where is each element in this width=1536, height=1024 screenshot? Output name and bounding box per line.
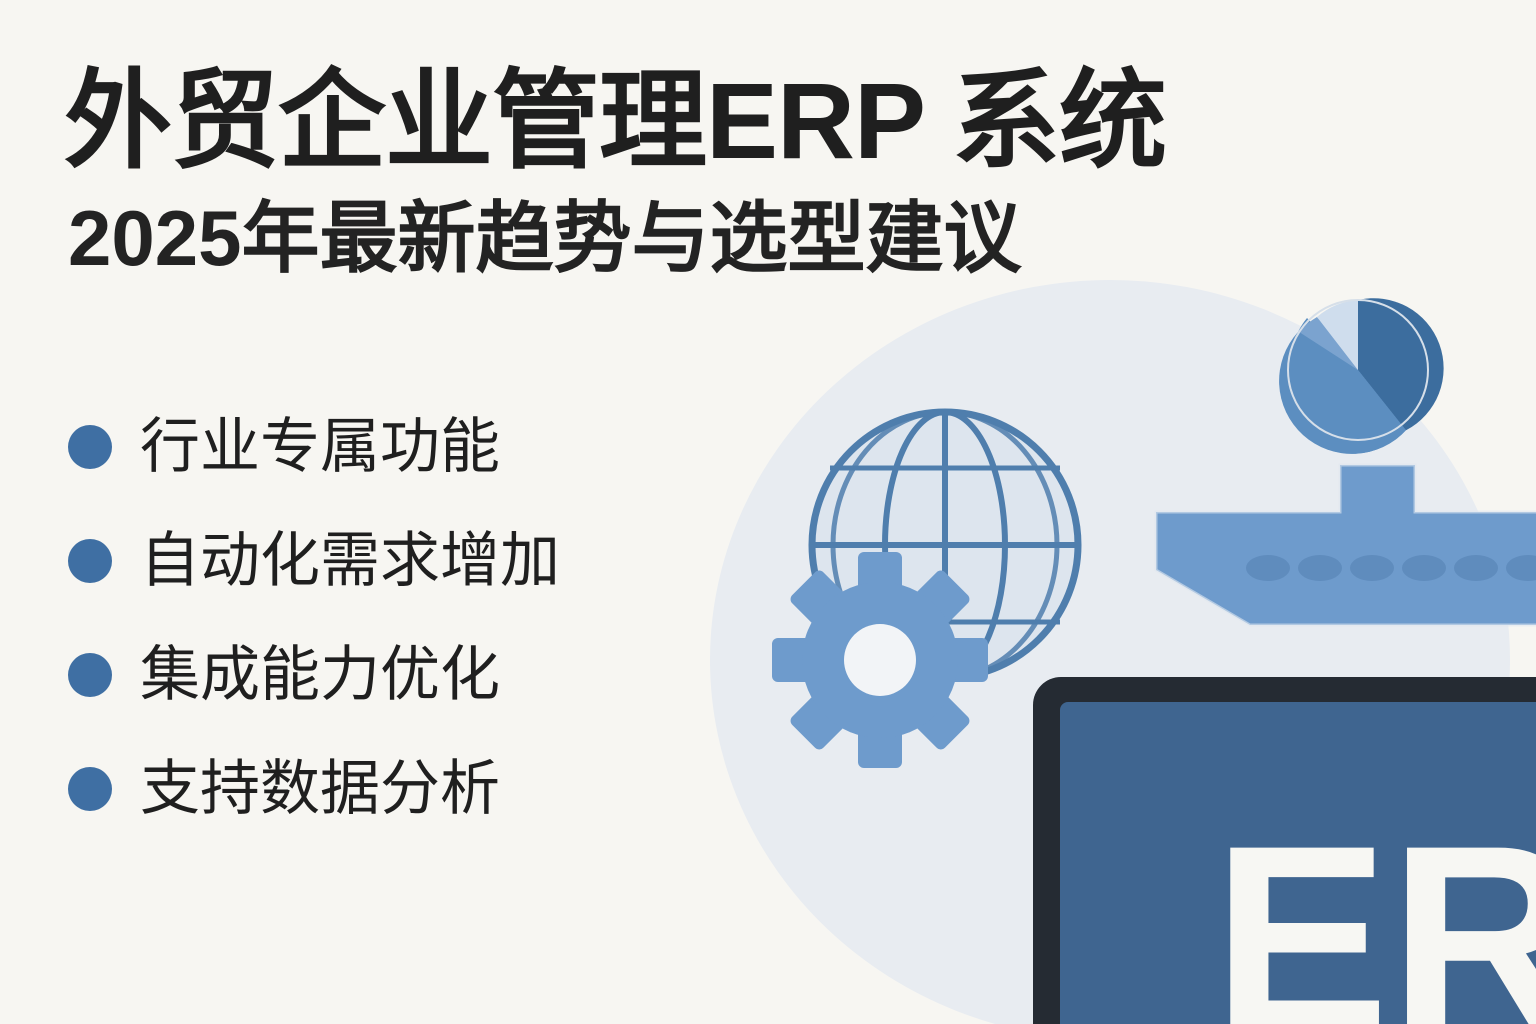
- screen-label: ERP: [1213, 791, 1536, 1024]
- poster-canvas: 外贸企业管理ERP 系统 2025年最新趋势与选型建议 行业专属功能 自动化需求…: [0, 0, 1536, 1024]
- list-item-label: 支持数据分析: [140, 759, 500, 819]
- bullet-dot-icon: [68, 653, 112, 697]
- list-item: 行业专属功能: [68, 390, 668, 504]
- illustration: ERP: [640, 240, 1536, 1024]
- list-item-label: 集成能力优化: [140, 645, 500, 705]
- list-item: 自动化需求增加: [68, 504, 668, 618]
- list-item-label: 行业专属功能: [140, 417, 500, 477]
- desktop-monitor: ERP: [1033, 677, 1536, 1024]
- gear-icon: [772, 552, 988, 768]
- bullet-dot-icon: [68, 539, 112, 583]
- bullet-dot-icon: [68, 767, 112, 811]
- list-item-label: 自动化需求增加: [140, 531, 560, 591]
- page-title: 外贸企业管理ERP 系统: [64, 64, 1394, 178]
- bullet-dot-icon: [68, 425, 112, 469]
- feature-list: 行业专属功能 自动化需求增加 集成能力优化 支持数据分析: [68, 390, 668, 846]
- list-item: 支持数据分析: [68, 732, 668, 846]
- list-item: 集成能力优化: [68, 618, 668, 732]
